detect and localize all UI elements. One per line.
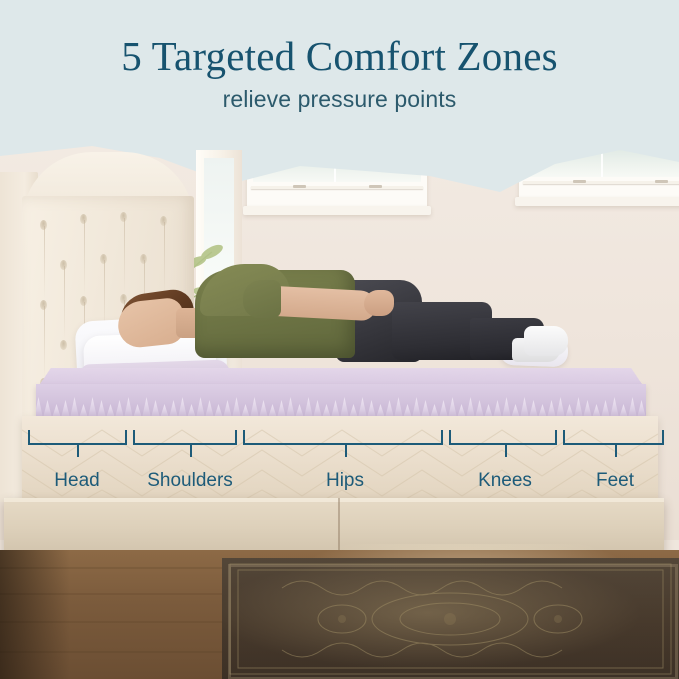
zone-bracket-cap [563, 430, 565, 443]
page-subtitle: relieve pressure points [0, 86, 679, 113]
zone-bracket-rule [243, 443, 443, 445]
page-title: 5 Targeted Comfort Zones [0, 34, 679, 78]
zone-center-tick [77, 443, 79, 457]
zone-bracket-cap [662, 430, 664, 443]
zone-bracket-rule [449, 443, 557, 445]
zone-bracket-cap [125, 430, 127, 443]
zone-bracket-rule [563, 443, 664, 445]
zone-label-hips: Hips [326, 470, 364, 492]
zone-label-shoulders: Shoulders [147, 470, 233, 492]
zone-bracket-cap [243, 430, 245, 443]
zone-bracket-cap [28, 430, 30, 443]
zone-bracket-cap [449, 430, 451, 443]
header-banner: 5 Targeted Comfort Zones relieve pressur… [0, 0, 679, 146]
zone-center-tick [615, 443, 617, 457]
zone-center-tick [505, 443, 507, 457]
zone-label-feet: Feet [596, 470, 634, 492]
zone-bracket-cap [133, 430, 135, 443]
zone-bracket-cap [555, 430, 557, 443]
zone-label-head: Head [54, 470, 99, 492]
zone-bracket-cap [441, 430, 443, 443]
comfort-zone-brackets: HeadShouldersHipsKneesFeet [0, 140, 679, 679]
zone-bracket-rule [133, 443, 237, 445]
infographic-canvas: HeadShouldersHipsKneesFeet 5 Targeted Co… [0, 0, 679, 679]
zone-bracket-cap [235, 430, 237, 443]
zone-center-tick [345, 443, 347, 457]
zone-center-tick [190, 443, 192, 457]
zone-label-knees: Knees [478, 470, 532, 492]
